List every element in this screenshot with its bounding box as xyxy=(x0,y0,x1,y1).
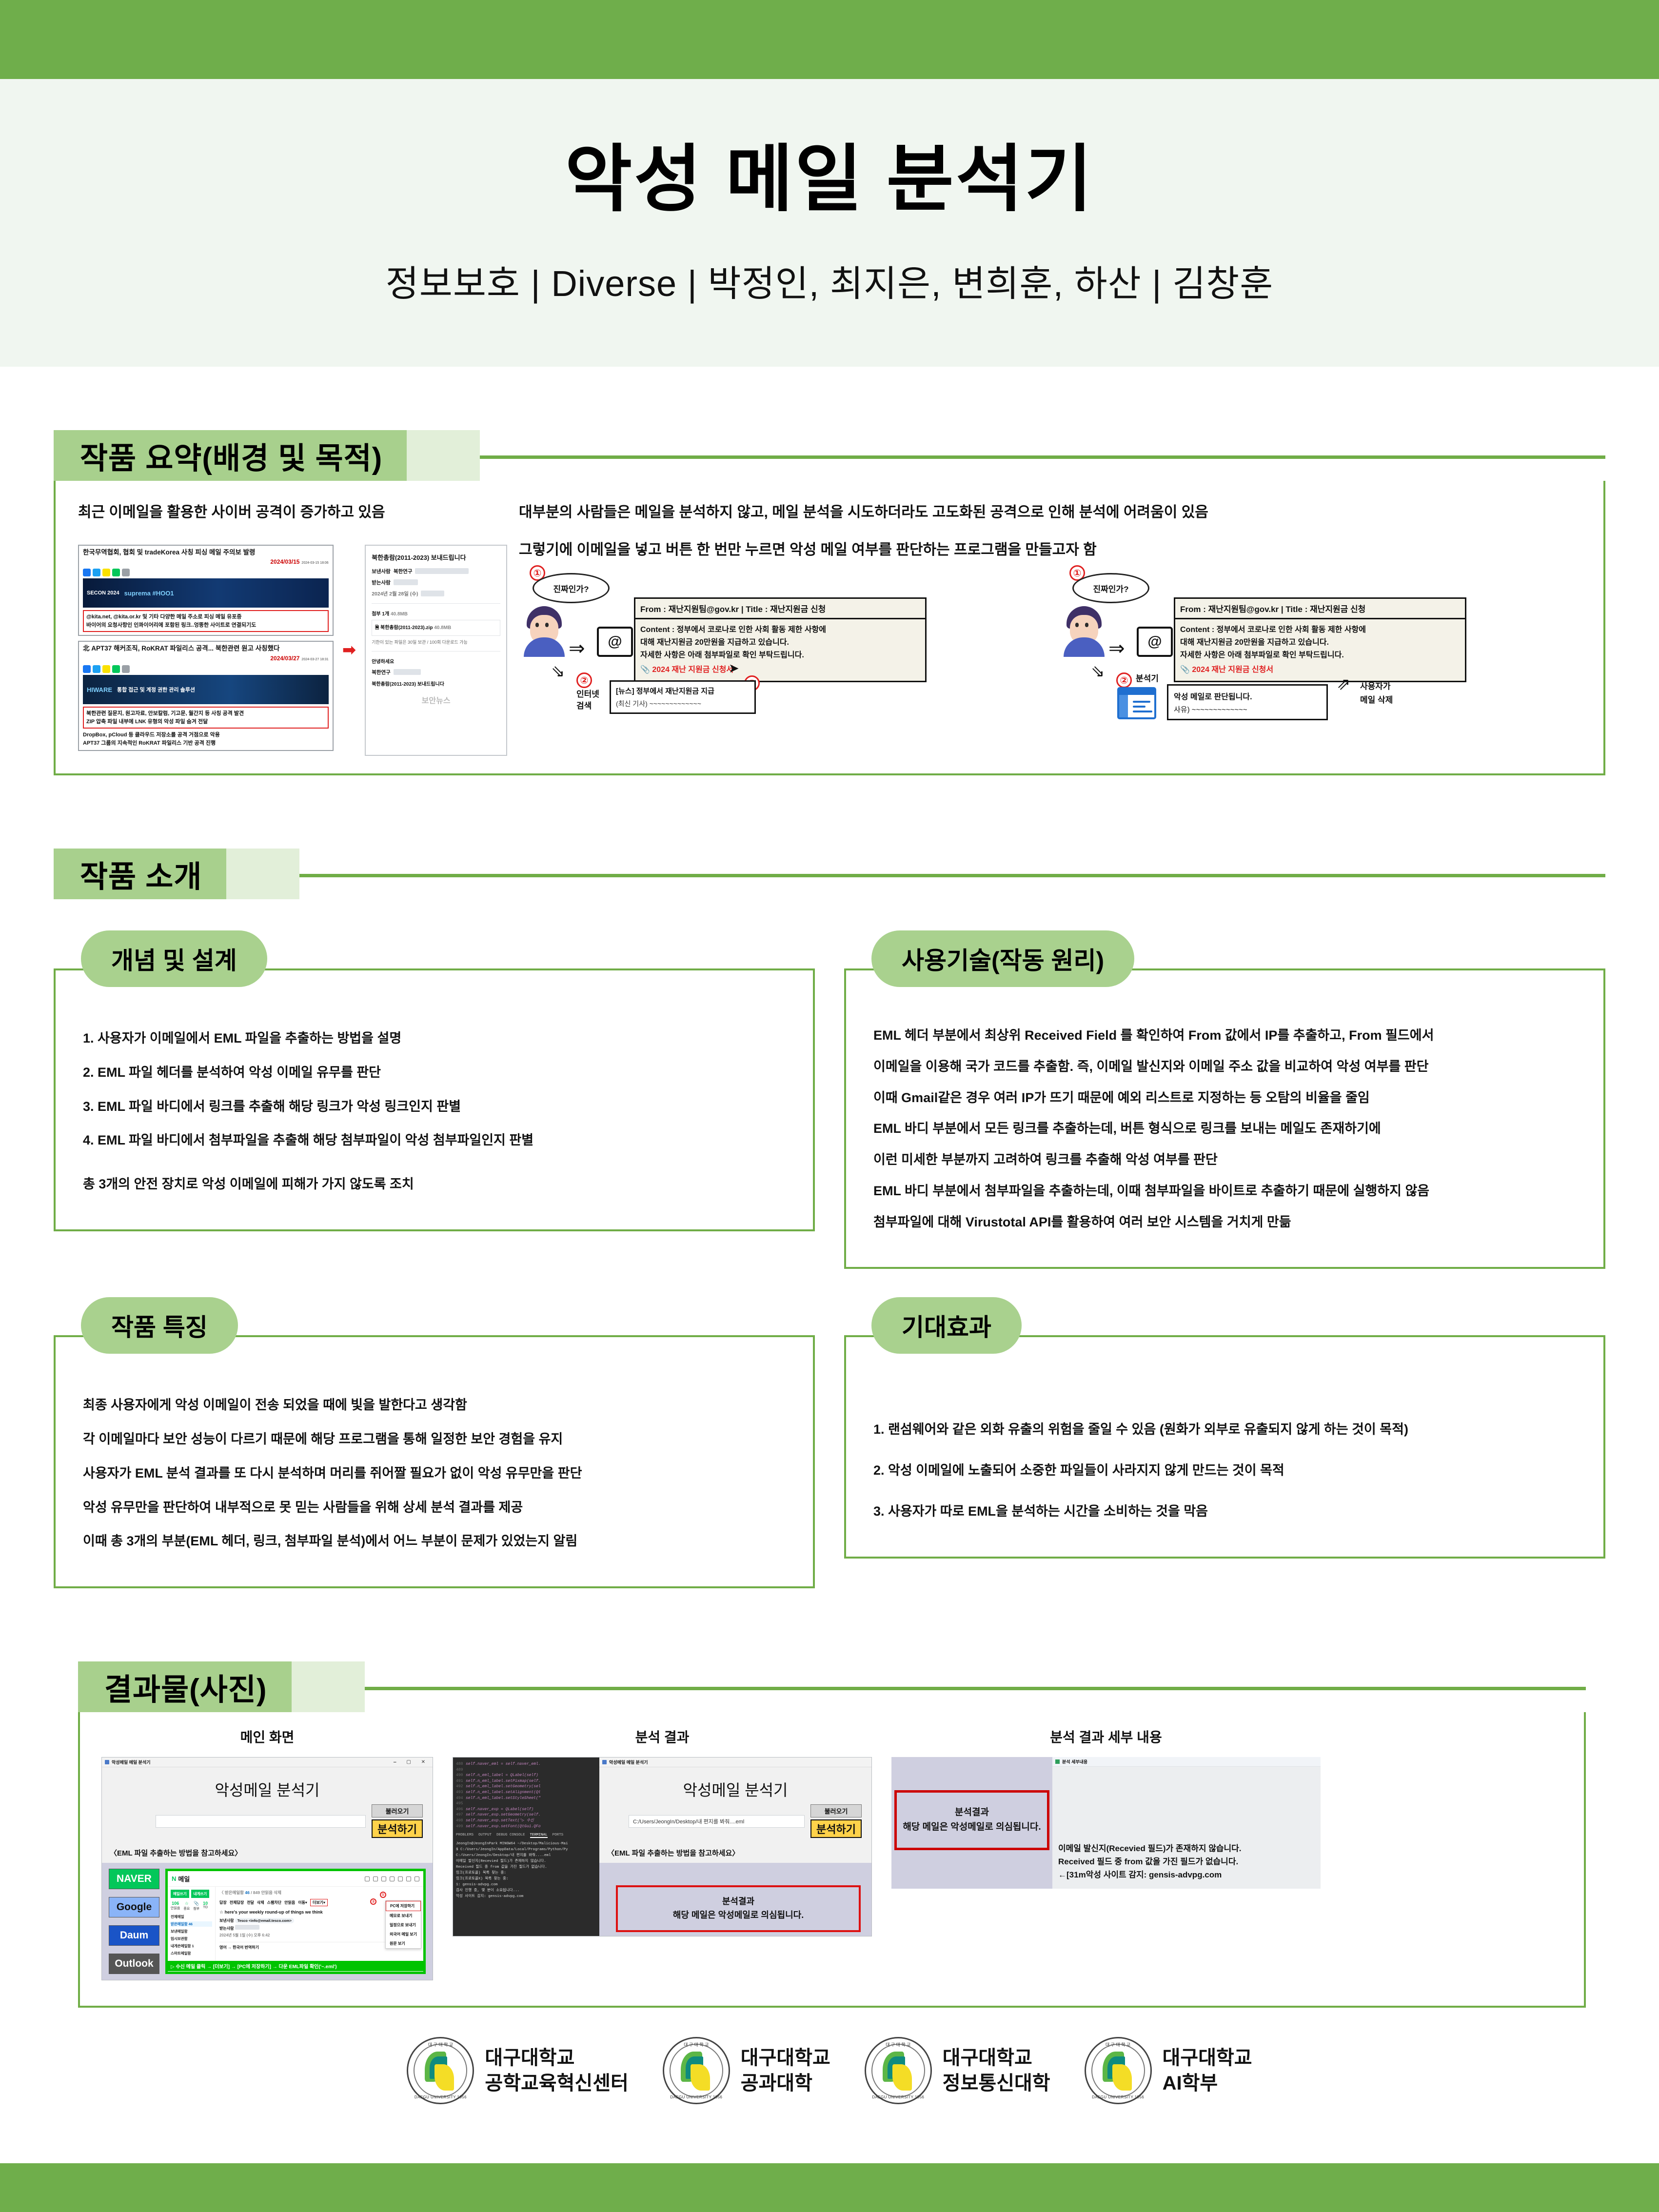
section-results-title-block: 결과물(사진) xyxy=(78,1661,292,1712)
news-red-highlight: 북한관련 질문지, 원고자료, 안보칼럼, 기고문, 월간지 등 사칭 공격 발… xyxy=(83,707,329,729)
analyzer-label: 분석기 xyxy=(1136,673,1159,685)
section-results-body: 메인 화면 악성메일 메일 분석기 ‒ ▢ ✕ 악성메일 분석기 불러오기 분석… xyxy=(78,1712,1586,2008)
redacted-bar xyxy=(421,591,444,596)
screenshot-analysis: 분석 결과 488self.naver_eml = self.naver_eml… xyxy=(453,1727,872,1936)
window-titlebar: 악성메일 메일 분석기 ‒ ▢ ✕ xyxy=(102,1758,433,1767)
section-header-accent xyxy=(226,849,299,899)
menu-item-send-memo[interactable]: 메모로 보내기 xyxy=(386,1911,421,1920)
card-line: EML 바디 부분에서 첨부파일을 추출하는데, 이때 첨부파일을 바이트로 추… xyxy=(873,1181,1582,1202)
speech-bubble: 진짜인가? xyxy=(1072,573,1149,603)
attachment-item: 🗎 북한총람(2011-2023).zip 40.8MB xyxy=(372,620,500,636)
reply-all-button[interactable]: 전체답장 xyxy=(230,1900,244,1905)
terminal-line: $ C:/Users/JeongIn/AppData/Local/Program… xyxy=(456,1847,596,1853)
phishing-email-box: From : 재난지원팀@gov.kr | Title : 재난지원금 신청 C… xyxy=(1174,597,1466,682)
card-features: 작품 특징 최종 사용자에게 악성 이메일이 전송 되었을 때에 빛을 발한다고… xyxy=(54,1297,815,1588)
search-label-1: 인터넷 xyxy=(576,689,599,700)
to-label: TO xyxy=(203,1906,208,1909)
emblem-top-text: 대 구 대 학 교 xyxy=(1086,2041,1150,2048)
email-attachment-link[interactable]: 2024 재난 지원금 신청서 xyxy=(652,666,733,674)
facebook-icon xyxy=(83,665,91,673)
forward-button[interactable]: 전달 xyxy=(247,1900,254,1905)
logo-line-bottom: 공학교육혁신센터 xyxy=(485,2071,628,2096)
line-number: 488 xyxy=(456,1761,466,1767)
card-concept-design: 개념 및 설계 1. 사용자가 이메일에서 EML 파일을 추출하는 방법을 설… xyxy=(54,930,815,1269)
card-line: 1. 사용자가 이메일에서 EML 파일을 추출하는 방법을 설명 xyxy=(83,1028,791,1049)
window-title: 악성메일 메일 분석기 xyxy=(609,1759,648,1765)
provider-tab-daum[interactable]: Daum xyxy=(109,1925,159,1946)
terminal-line: Received 필드 중 from 값을 가진 필드가 없습니다. xyxy=(456,1864,596,1870)
section-rule-wrap xyxy=(480,430,1605,481)
menu-item-foreign-mail[interactable]: 외국어 메일 보기 xyxy=(386,1930,421,1939)
code-text: self.naver_exp = QLabel(self) xyxy=(466,1807,533,1812)
sidebar-item-sent[interactable]: 보낸메일함 xyxy=(171,1929,212,1934)
card-line: 이때 총 3개의 부분(EML 헤더, 링크, 첨부파일 분석)에서 어느 부분… xyxy=(83,1531,791,1552)
screenshot-detail: 분석 결과 세부 내용 분석결과 해당 메일은 악성메일로 의심됩니다. 분석 … xyxy=(891,1727,1321,1889)
card-line: 3. EML 파일 바디에서 링크를 추출해 해당 링크가 악성 링크인지 판별 xyxy=(83,1096,791,1118)
line-number: 499 xyxy=(456,1824,466,1830)
sidebar-item-inbox[interactable]: 받은메일함 46 xyxy=(171,1921,212,1927)
news-ad-banner: HIWARE 통합 접근 및 계정 권한 관리 솔루션 xyxy=(83,675,329,704)
screenshot-caption: 메인 화면 xyxy=(240,1727,295,1746)
code-text: self.naver_eml = self.naver_eml. xyxy=(466,1762,541,1766)
delete-button[interactable]: 삭제 xyxy=(257,1900,264,1905)
compose-button[interactable]: 메일쓰기 xyxy=(171,1890,189,1898)
arrow-right-icon: ⇒ xyxy=(1108,637,1125,660)
card-tab-label: 개념 및 설계 xyxy=(81,930,267,987)
result-body: 해당 메일은 악성메일로 의심됩니다. xyxy=(901,1820,1043,1835)
section-intro-title: 작품 소개 xyxy=(80,852,202,896)
facebook-icon xyxy=(83,569,91,576)
mail-closing: 북한총람(2011-2023) 보내드립니다 xyxy=(372,680,500,687)
banner-left-text: HIWARE xyxy=(87,686,112,693)
screenshot-caption: 분석 결과 xyxy=(635,1727,690,1746)
move-button[interactable]: 이동▾ xyxy=(298,1900,307,1905)
red-arrow-icon: ➡ xyxy=(342,640,356,660)
paperclip-icon: 📎 xyxy=(193,1901,199,1906)
provider-tab-outlook[interactable]: Outlook xyxy=(109,1954,159,1974)
app-icon xyxy=(1055,1759,1060,1764)
terminal-line: 이메일 발신지(Recevied 필드)가 존재하지 않습니다. xyxy=(456,1858,596,1864)
flow-without-analyzer: ① 진짜인가? ⇒ @ ⇘ ② 인터넷 검색 From : 재난지원팀@gov.… xyxy=(519,564,1044,711)
app-heading: 악성메일 분석기 xyxy=(599,1767,871,1802)
banner-brand: suprema #HOO1 xyxy=(124,590,174,597)
logo-line-top: 대구대학교 xyxy=(1163,2045,1252,2071)
news-share-icons xyxy=(83,665,329,673)
summary-lead-right-2: 그렇기에 이메일을 넣고 버튼 한 번만 누르면 악성 메일 여부를 판단하는 … xyxy=(519,539,1584,562)
card-line: 악성 유무만을 판단하여 내부적으로 못 믿는 사람들을 위해 상세 분석 결과… xyxy=(83,1497,791,1519)
news-card: 北 APT37 해커조직, RoKRAT 파일리스 공격... 북한관련 원고 … xyxy=(78,641,334,751)
redacted-bar xyxy=(394,579,418,585)
logo-line-bottom: 정보통신대학 xyxy=(943,2071,1050,2096)
sidebar-item-smart[interactable]: 스마트메일함 xyxy=(171,1951,212,1956)
contacts-icon xyxy=(390,1876,395,1881)
code-text: self.n_eml_label.setGeometry(sel xyxy=(466,1784,541,1789)
daegu-university-emblem-icon: 대 구 대 학 교 DAEGU UNIVERSITY 1956 xyxy=(1085,2037,1152,2104)
code-text: self.naver_exp.setGeometry(self. xyxy=(466,1813,541,1817)
email-body-line: Content : 정부에서 코로나로 인한 사회 활동 제한 사항에 xyxy=(1180,624,1460,636)
card-line: 3. 사용자가 따로 EML을 분석하는 시간을 소비하는 것을 막음 xyxy=(873,1501,1582,1522)
unread-label: 안읽음 xyxy=(171,1907,180,1910)
page-title: 악성 메일 분석기 xyxy=(565,139,1094,219)
code-text: self.naver_exp.setText('▷ 수신 xyxy=(466,1818,534,1823)
step-2-marker: ② xyxy=(1116,672,1132,688)
intro-card-row-2: 작품 특징 최종 사용자에게 악성 이메일이 전송 되었을 때에 빛을 발한다고… xyxy=(54,1297,1605,1588)
card-line: 2. 악성 이메일에 노출되어 소중한 파일들이 사라지지 않게 만드는 것이 … xyxy=(873,1460,1582,1481)
list-icon xyxy=(381,1876,386,1881)
arrow-right-icon: ⇒ xyxy=(569,637,585,660)
app-heading: 악성메일 분석기 xyxy=(102,1767,433,1802)
email-body-line: 대해 재난지원금 20만원을 지급하고 있습니다. xyxy=(1180,636,1460,649)
news-clippings: 한국무역협회, 협회 및 tradeKorea 사칭 피싱 메일 주의보 발령 … xyxy=(78,545,507,756)
more-dropdown-menu[interactable]: PC에 저장하기 메모로 보내기 일정으로 보내기 외국어 메일 보기 원문 보… xyxy=(385,1900,421,1949)
line-number: 494 xyxy=(456,1796,466,1801)
attachment-total-size: 40.8MB xyxy=(391,612,408,617)
app-icon xyxy=(602,1760,607,1764)
naver-toolbar-icons xyxy=(365,1876,419,1881)
logo-college-of-engineering: 대 구 대 학 교 DAEGU UNIVERSITY 1956 대구대학교 공과… xyxy=(663,2037,830,2104)
star-icon: ☆ xyxy=(183,1901,190,1906)
window-titlebar: 분석 세부내용 xyxy=(1052,1757,1321,1767)
user-avatar xyxy=(524,606,565,657)
redacted-bar xyxy=(394,669,421,675)
provider-guide-area: NAVER Google Daum Outlook N 메일 xyxy=(102,1863,433,1980)
emblem-bottom-text: DAEGU UNIVERSITY 1956 xyxy=(866,2095,930,2099)
naver-mail-label: 메일 xyxy=(178,1876,190,1883)
mail-card-date: 2024년 2월 28일 (수) xyxy=(372,590,418,597)
phishing-email-box: From : 재난지원팀@gov.kr | Title : 재난지원금 신청 C… xyxy=(634,597,927,682)
result-title: 분석결과 xyxy=(901,1805,1043,1820)
reply-button[interactable]: 답장 xyxy=(219,1900,227,1905)
mark-unread-button[interactable]: 안읽음 xyxy=(284,1900,295,1905)
card-line: 각 이메일마다 보안 성능이 다르기 때문에 해당 프로그램을 통해 일정한 보… xyxy=(83,1429,791,1450)
naver-mail-guide-screenshot: N 메일 xyxy=(165,1869,426,1974)
card-line: 이때 Gmail같은 경우 여러 IP가 뜨기 때문에 예외 리스트로 지정하는… xyxy=(873,1087,1582,1109)
top-green-band xyxy=(0,0,1659,79)
line-number: 498 xyxy=(456,1818,466,1824)
detail-text-block: 이메일 발신지(Recevied 필드)가 존재하지 않습니다. Receive… xyxy=(1058,1842,1317,1882)
eml-hint-text: 〈EML 파일 추출하는 방법을 참고하세요〉 xyxy=(102,1844,433,1863)
delete-label-2: 메일 삭제 xyxy=(1360,695,1393,706)
analyzer-result-pane: 악성메일 메일 분석기 악성메일 분석기 C:/Users/JeongIn/De… xyxy=(599,1758,871,1936)
mail-card-title: 북한총람(2011-2023) 보내드립니다 xyxy=(372,553,500,562)
email-from-title: From : 재난지원팀@gov.kr | Title : 재난지원금 신청 xyxy=(635,599,925,619)
arrow-up-right-icon: ⇗ xyxy=(1337,674,1351,694)
menu-item-save-to-pc[interactable]: PC에 저장하기 xyxy=(386,1901,421,1911)
speech-bubble: 진짜인가? xyxy=(533,573,610,603)
card-line: 이런 미세한 부분까지 고려하여 링크를 추출해 악성 여부를 판단 xyxy=(873,1149,1582,1171)
archive-icon xyxy=(406,1876,411,1881)
news-plain-line: APT37 그룹의 지속적인 RoKRAT 파일리스 기반 공격 진행 xyxy=(83,739,329,748)
summary-lead-right-1: 대부분의 사람들은 메일을 분석하지 않고, 메일 분석을 시도하더라도 고도화… xyxy=(519,501,1584,524)
twitter-icon xyxy=(93,569,100,576)
breadcrumb: 〈 받은메일함 xyxy=(219,1890,244,1895)
delete-label-1: 사용자가 xyxy=(1360,681,1391,692)
card-tab-label: 작품 특징 xyxy=(81,1297,238,1354)
provider-tab-list: NAVER Google Daum Outlook xyxy=(109,1869,159,1974)
card-expected-effect: 기대효과 1. 랜섬웨어와 같은 외화 유출의 위험을 줄일 수 있음 (원화가… xyxy=(844,1297,1605,1588)
terminal-line: 악성 사이트 감지: gensis-advpg.com xyxy=(456,1894,596,1899)
logo-line-bottom: 공과대학 xyxy=(741,2071,830,2096)
spam-button[interactable]: 스팸차단 xyxy=(267,1900,281,1905)
summary-left-column: 최근 이메일을 활용한 사이버 공격이 증가하고 있음 한국무역협회, 협회 및… xyxy=(78,501,507,756)
line-number: 489 xyxy=(456,1767,466,1773)
analysis-result-reason: 사유) ~~~~~~~~~~~~~ xyxy=(1174,704,1321,714)
section-results-header: 결과물(사진) xyxy=(78,1661,1586,1712)
tab-ports[interactable]: PORTS xyxy=(553,1833,564,1838)
load-file-button[interactable]: 불러오기 xyxy=(372,1804,423,1817)
mail-org: 북한연구 xyxy=(372,669,391,676)
tab-terminal[interactable]: TERMINAL xyxy=(530,1833,548,1838)
card-line: 이메일을 이용해 국가 코드를 추출함. 즉, 이메일 발신지와 이메일 주소 … xyxy=(873,1056,1582,1078)
result-area: 분석결과 해당 메일은 악성메일로 의심됩니다. xyxy=(599,1863,871,1936)
news-result-body: (최신 기사) ~~~~~~~~~~~~~ xyxy=(616,699,750,709)
mail-sender-value: 북한연구 xyxy=(394,568,413,575)
mailbox-icon xyxy=(365,1876,370,1881)
analyze-button[interactable]: 분석하기 xyxy=(372,1819,423,1838)
news-result-title: [뉴스] 정부에서 재난지원금 지급 xyxy=(616,686,750,696)
news-red-line: ZIP 압축 파일 내부에 LNK 유형의 악성 파일 숨겨 전달 xyxy=(86,718,325,726)
terminal-line: 검사 진행 중, 몇 분이 소요됩니다... xyxy=(456,1888,596,1894)
calendar-icon xyxy=(373,1876,378,1881)
logo-college-of-ict: 대 구 대 학 교 DAEGU UNIVERSITY 1956 대구대학교 정보… xyxy=(865,2037,1050,2104)
result-alert-box: 분석결과 해당 메일은 악성메일로 의심됩니다. xyxy=(894,1790,1049,1850)
daegu-university-emblem-icon: 대 구 대 학 교 DAEGU UNIVERSITY 1956 xyxy=(407,2037,474,2104)
mail-greeting: 안녕하세요 xyxy=(372,657,500,665)
window-controls[interactable]: ‒ ▢ ✕ xyxy=(394,1759,430,1765)
detail-line: ←[31m악성 사이트 감지: gensis-advpg.com xyxy=(1058,1869,1317,1882)
section-summary-title: 작품 요약(배경 및 목적) xyxy=(80,434,382,477)
result-area: 분석결과 해당 메일은 악성메일로 의심됩니다. xyxy=(891,1757,1052,1889)
emblem-bottom-text: DAEGU UNIVERSITY 1956 xyxy=(664,2095,729,2099)
line-number: 492 xyxy=(456,1784,466,1790)
logo-line-top: 대구대학교 xyxy=(741,2045,830,2071)
naver-icon xyxy=(112,569,120,576)
kakao-icon xyxy=(102,665,110,673)
code-text: self.n_eml_label.setPixmap(self. xyxy=(466,1779,541,1783)
analysis-result-box: 악성 메일로 판단됩니다. 사유) ~~~~~~~~~~~~~ xyxy=(1167,684,1328,720)
app-window-main: 악성메일 메일 분석기 ‒ ▢ ✕ 악성메일 분석기 불러오기 분석하기 〈EM… xyxy=(101,1757,433,1980)
emblem-bottom-text: DAEGU UNIVERSITY 1956 xyxy=(1086,2095,1150,2099)
section-intro: 작품 소개 개념 및 설계 1. 사용자가 이메일에서 EML 파일을 추출하는… xyxy=(54,849,1605,1588)
screenshot-main: 메인 화면 악성메일 메일 분석기 ‒ ▢ ✕ 악성메일 분석기 불러오기 분석… xyxy=(101,1727,433,1980)
bottom-green-band xyxy=(0,2163,1659,2212)
attachment-file-size: 40.8MB xyxy=(434,625,451,631)
kakao-icon xyxy=(102,569,110,576)
provider-tab-google[interactable]: Google xyxy=(109,1897,159,1917)
code-text: self.naver_exp.setFont(QtGui.QFo xyxy=(466,1824,541,1829)
news-red-line: 북한관련 질문지, 원고자료, 안보칼럼, 기고문, 월간지 등 사칭 공격 발… xyxy=(86,710,325,718)
code-text: self.n_eml_label.setAlignment(Qt xyxy=(466,1790,541,1795)
to-count: 10 xyxy=(203,1901,208,1906)
emblem-bottom-text: DAEGU UNIVERSITY 1956 xyxy=(408,2095,473,2099)
news-headline: 한국무역협회, 협회 및 tradeKorea 사칭 피싱 메일 주의보 발령 xyxy=(83,549,329,557)
eml-hint-text: 〈EML 파일 추출하는 방법을 참고하세요〉 xyxy=(599,1844,871,1863)
mail-from-value: Tesco <info@email.tesco.com> xyxy=(235,1918,294,1923)
share-icon xyxy=(122,665,130,673)
news-ad-banner: SECON 2024 suprema #HOO1 xyxy=(83,578,329,608)
flow-with-analyzer: ① 진짜인가? ⇒ @ ⇘ ② 분석기 xyxy=(1059,564,1584,711)
window-title: 악성메일 메일 분석기 xyxy=(112,1759,151,1765)
attachment-retention-note: 기한이 있는 파일은 30일 보관 / 100회 다운로드 가능 xyxy=(372,639,500,645)
email-envelope-icon: @ xyxy=(597,627,633,657)
more-button[interactable]: 더보기▾ xyxy=(310,1899,328,1906)
screenshot-caption: 분석 결과 세부 내용 xyxy=(1050,1727,1162,1746)
banner-right-text: 통합 접근 및 계정 권한 관리 솔루션 xyxy=(117,686,195,693)
section-rule xyxy=(365,1687,1586,1690)
line-number: 493 xyxy=(456,1790,466,1796)
logo-line-bottom: AI학부 xyxy=(1163,2071,1252,2096)
news-date: 2024/03/27 xyxy=(270,655,299,662)
email-from-title: From : 재난지원팀@gov.kr | Title : 재난지원금 신청 xyxy=(1175,599,1465,619)
tab-problems[interactable]: PROBLEMS xyxy=(456,1833,474,1838)
self-mail-button[interactable]: 내게쓰기 xyxy=(191,1890,210,1898)
news-search-result-box: [뉴스] 정부에서 재난지원금 지급 (최신 기사) ~~~~~~~~~~~~~ xyxy=(610,680,756,714)
analysis-window: 488self.naver_eml = self.naver_eml. 489 … xyxy=(453,1757,872,1936)
app-icon xyxy=(105,1760,109,1764)
analyze-button[interactable]: 분석하기 xyxy=(810,1819,862,1838)
card-line: 첨부파일에 대해 Virustotal API를 활용하여 여러 보안 시스템을… xyxy=(873,1212,1582,1233)
unread-count: 106 xyxy=(171,1901,180,1906)
line-number: 496 xyxy=(456,1807,466,1813)
code-text: self.n_eml_label = QLabel(self) xyxy=(466,1773,538,1777)
terminal-tabs: PROBLEMS OUTPUT DEBUG CONSOLE TERMINAL P… xyxy=(456,1833,596,1838)
section-summary-title-block: 작품 요약(배경 및 목적) xyxy=(54,430,407,481)
attachment-label: 첨부 xyxy=(193,1907,199,1911)
email-body-line: Content : 정부에서 코로나로 인한 사회 활동 제한 사항에 xyxy=(640,624,920,636)
terminal-line: 링크(프로토콜X) 목록 찾는 중: xyxy=(456,1876,596,1882)
logo-line-top: 대구대학교 xyxy=(943,2045,1050,2071)
naver-logo-icon: N xyxy=(172,1875,176,1882)
poster-authors: 정보보호 | Diverse | 박정인, 최지은, 변희훈, 하산 | 김창훈 xyxy=(386,255,1274,307)
sidebar-item-all[interactable]: 전체메일 xyxy=(171,1914,212,1919)
poster-header: 악성 메일 분석기 정보보호 | Diverse | 박정인, 최지은, 변희훈… xyxy=(0,79,1659,367)
tab-debug-console[interactable]: DEBUG CONSOLE xyxy=(496,1833,525,1838)
daegu-university-emblem-icon: 대 구 대 학 교 DAEGU UNIVERSITY 1956 xyxy=(865,2037,932,2104)
news-red-highlight: @kita.net, @kita.or.kr 및 기타 다양한 메일 주소로 피… xyxy=(83,610,329,632)
flow-diagrams: ① 진짜인가? ⇒ @ ⇘ ② 인터넷 검색 From : 재난지원팀@gov.… xyxy=(519,564,1584,711)
email-body-line: 자세한 사항은 아래 첨부파일로 확인 부탁드립니다. xyxy=(1180,649,1460,662)
gear-icon xyxy=(398,1876,403,1881)
logo-engineering-innovation-center: 대 구 대 학 교 DAEGU UNIVERSITY 1956 대구대학교 공학… xyxy=(407,2037,628,2104)
detail-window: 분석결과 해당 메일은 악성메일로 의심됩니다. 분석 세부내용 이메일 발신지… xyxy=(891,1757,1321,1889)
inbox-total: / 849 xyxy=(251,1890,260,1895)
news-red-line: @kita.net, @kita.or.kr 및 기타 다양한 메일 주소로 피… xyxy=(86,613,325,621)
result-alert-box: 분석결과 해당 메일은 악성메일로 의심됩니다. xyxy=(616,1885,861,1932)
daegu-university-emblem-icon: 대 구 대 학 교 DAEGU UNIVERSITY 1956 xyxy=(663,2037,730,2104)
summary-right-column: 대부분의 사람들은 메일을 분석하지 않고, 메일 분석을 시도하더라도 고도화… xyxy=(519,501,1584,756)
inbox-extra: 안읽음 삭제 xyxy=(261,1890,281,1895)
line-number: 491 xyxy=(456,1778,466,1784)
footer-logos: 대 구 대 학 교 DAEGU UNIVERSITY 1956 대구대학교 공학… xyxy=(0,2008,1659,2126)
search-label-2: 검색 xyxy=(576,701,592,712)
load-file-button[interactable]: 불러오기 xyxy=(810,1804,862,1817)
phishing-mail-card: 북한총람(2011-2023) 보내드립니다 보낸사람 북한연구 받는사람 20… xyxy=(365,545,507,756)
eml-path-input[interactable]: C:/Users/JeongIn/Desktop/내 편지를 봐줘....eml xyxy=(629,1815,805,1828)
card-tab-label: 사용기술(작동 원리) xyxy=(871,930,1134,987)
mail-to-label: 받는사람 xyxy=(219,1926,234,1931)
step-1-marker: ① xyxy=(380,1892,386,1898)
logo-line-top: 대구대학교 xyxy=(485,2045,628,2071)
card-line: EML 바디 부분에서 모든 링크를 추출하는데, 버튼 형식으로 링크를 보내… xyxy=(873,1118,1582,1140)
emblem-top-text: 대 구 대 학 교 xyxy=(408,2041,473,2048)
news-date: 2024/03/15 xyxy=(270,558,299,565)
summary-lead-left: 최근 이메일을 활용한 사이버 공격이 증가하고 있음 xyxy=(78,501,507,524)
arrow-down-right-icon: ⇘ xyxy=(1091,662,1105,681)
news-red-line: 바이어의 요청사항인 인콰이어리에 포함된 링크..엉뚱한 사이트로 연결되기도 xyxy=(86,621,325,630)
detail-popup-window: 분석 세부내용 이메일 발신지(Recevied 필드)가 존재하지 않습니다.… xyxy=(1052,1757,1321,1889)
detail-line: Received 필드 중 from 값을 가진 필드가 없습니다. xyxy=(1058,1856,1317,1869)
zip-file-icon: 🗎 xyxy=(375,625,379,631)
emblem-top-text: 대 구 대 학 교 xyxy=(664,2041,729,2048)
card-technology: 사용기술(작동 원리) EML 헤더 부분에서 최상위 Received Fie… xyxy=(844,930,1605,1269)
mail-receiver-label: 받는사람 xyxy=(372,579,391,586)
card-line: 1. 랜섬웨어와 같은 외화 유출의 위험을 줄일 수 있음 (원화가 외부로 … xyxy=(873,1419,1582,1441)
terminal-line: 링크(프로토콜) 목록 찾는 중: xyxy=(456,1870,596,1876)
tab-output[interactable]: OUTPUT xyxy=(478,1833,492,1838)
menu-item-view-source[interactable]: 원문 보기 xyxy=(386,1939,421,1948)
window-title: 분석 세부내용 xyxy=(1062,1758,1087,1765)
sidebar-item-self[interactable]: 내게쓴메일함 1 xyxy=(171,1943,212,1949)
result-body: 해당 메일은 악성메일로 의심됩니다. xyxy=(623,1909,854,1922)
news-date-small: 2024-03-27 18:31 xyxy=(301,658,328,661)
watermark: 보안뉴스 xyxy=(372,694,500,706)
eml-path-input[interactable] xyxy=(156,1815,366,1828)
twitter-icon xyxy=(93,665,100,673)
sidebar-item-drafts[interactable]: 임시보관함 xyxy=(171,1936,212,1941)
code-text: self.n_eml_label.setStyleSheet(" xyxy=(466,1796,541,1800)
section-header-accent xyxy=(292,1661,365,1712)
line-number: 497 xyxy=(456,1812,466,1818)
share-icon xyxy=(122,569,130,576)
eml-extract-instruction: ▷ 수신 메일 클릭 → [더보기] → [PC에 저장하기] → 다운 EML… xyxy=(168,1961,423,1971)
email-envelope-icon: @ xyxy=(1137,627,1173,657)
step-2-marker: ② xyxy=(576,672,592,688)
window-titlebar: 악성메일 메일 분석기 xyxy=(599,1758,871,1767)
arrow-down-right-icon: ⇘ xyxy=(551,662,565,681)
email-attachment-link[interactable]: 2024 재난 지원금 신청서 xyxy=(1192,666,1273,674)
redacted-bar xyxy=(415,568,469,574)
paperclip-icon: 📎 xyxy=(640,666,650,674)
paperclip-icon: 📎 xyxy=(1180,666,1190,674)
line-number: 490 xyxy=(456,1773,466,1778)
section-rule xyxy=(480,455,1605,459)
cursor-icon: ➤ xyxy=(729,661,739,676)
provider-tab-naver[interactable]: NAVER xyxy=(109,1869,159,1889)
intro-card-row-1: 개념 및 설계 1. 사용자가 이메일에서 EML 파일을 추출하는 방법을 설… xyxy=(54,930,1605,1269)
email-body-line: 대해 재난지원금 20만원을 지급하고 있습니다. xyxy=(640,636,920,649)
section-summary: 작품 요약(배경 및 목적) 최근 이메일을 활용한 사이버 공격이 증가하고 … xyxy=(54,430,1605,775)
card-line: EML 헤더 부분에서 최상위 Received Field 를 확인하여 Fr… xyxy=(873,1025,1582,1047)
section-summary-header: 작품 요약(배경 및 목적) xyxy=(54,430,1605,481)
news-headline: 北 APT37 해커조직, RoKRAT 파일리스 공격... 북한관련 원고 … xyxy=(83,645,329,653)
user-avatar xyxy=(1064,606,1105,657)
mail-subject: here's your weekly round-up of things we… xyxy=(225,1910,323,1915)
inbox-count: 46 xyxy=(245,1890,249,1895)
menu-item-send-calendar[interactable]: 일정으로 보내기 xyxy=(386,1920,421,1930)
divider xyxy=(372,651,500,652)
naver-icon xyxy=(112,665,120,673)
section-header-accent xyxy=(407,430,480,481)
section-results: 결과물(사진) 메인 화면 악성메일 메일 분석기 ‒ ▢ ✕ 악성메일 분석기 xyxy=(78,1661,1586,2008)
naver-sidebar: 메일쓰기 내게쓰기 106 안읽음 ☆ 중요 📎 xyxy=(168,1887,216,1961)
news-share-icons xyxy=(83,569,329,576)
banner-left-text: SECON 2024 xyxy=(87,590,119,596)
section-intro-title-block: 작품 소개 xyxy=(54,849,226,899)
bookmark-icon xyxy=(415,1876,419,1881)
attachment-count-label: 첨부 1개 xyxy=(372,612,389,617)
terminal-line: C:/Users/JeongIn/Desktop/내 편지를 봐줘....eml xyxy=(456,1853,596,1858)
news-date-small: 2024-03-15 18:06 xyxy=(301,561,328,565)
